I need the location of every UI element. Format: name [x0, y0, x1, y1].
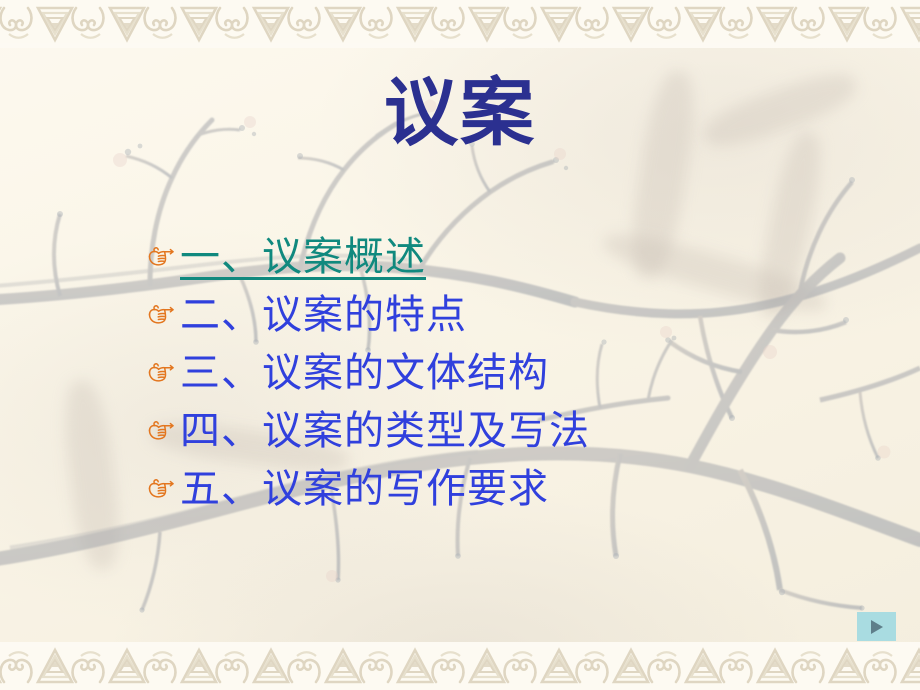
pointing-hand-icon: [146, 361, 176, 387]
play-triangle-icon: [868, 618, 886, 636]
toc-item-label: 一、议案概述: [180, 237, 426, 277]
toc-item-label: 三、议案的文体结构: [180, 353, 549, 393]
next-slide-button[interactable]: [857, 612, 896, 641]
ornamental-border-top: [0, 0, 920, 48]
pointing-hand-icon: [146, 419, 176, 445]
toc-item-3[interactable]: 三、议案的文体结构: [146, 344, 886, 402]
toc-item-5[interactable]: 五、议案的写作要求: [146, 460, 886, 518]
pointing-hand-icon: [146, 477, 176, 503]
pointing-hand-icon: [146, 303, 176, 329]
presentation-slide: 议案 一、议案概述: [0, 0, 920, 690]
toc-item-label: 二、议案的特点: [180, 295, 467, 335]
toc-item-label: 五、议案的写作要求: [180, 469, 549, 509]
pointing-hand-icon: [146, 245, 176, 271]
toc-item-2[interactable]: 二、议案的特点: [146, 286, 886, 344]
slide-title: 议案: [0, 72, 920, 155]
ornamental-border-bottom: [0, 642, 920, 690]
toc-item-label: 四、议案的类型及写法: [180, 411, 590, 451]
toc-item-4[interactable]: 四、议案的类型及写法: [146, 402, 886, 460]
table-of-contents-list: 一、议案概述 二、议案的: [146, 228, 886, 518]
toc-item-1[interactable]: 一、议案概述: [146, 228, 886, 286]
